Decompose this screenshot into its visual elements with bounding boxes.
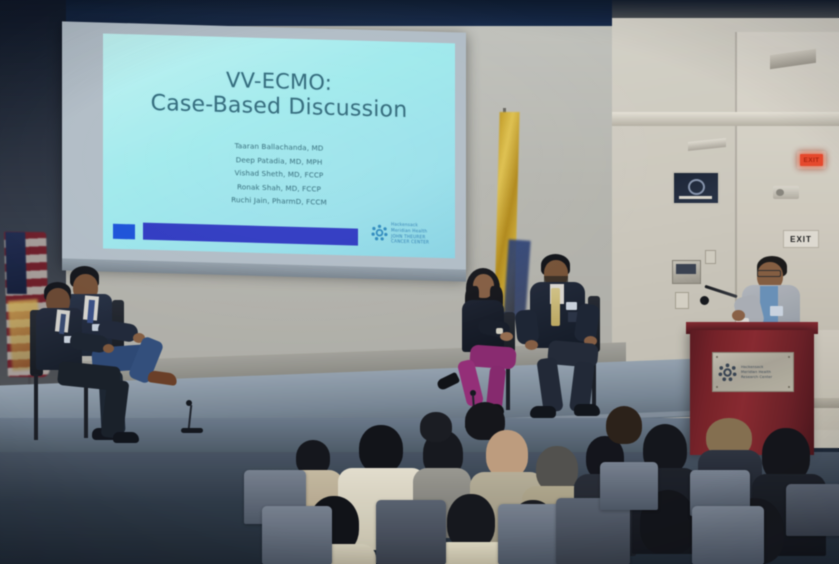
speaker-bar — [679, 196, 712, 199]
exit-sign-wall-label: EXIT — [790, 235, 812, 244]
emergency-light-icon — [773, 186, 799, 199]
wall-speaker-camera-icon — [672, 171, 720, 205]
shoe — [113, 432, 139, 443]
audience-seat[interactable] — [498, 504, 564, 564]
audience-seat[interactable] — [786, 484, 839, 536]
plaque-line-2: Meridian Health — [741, 370, 772, 374]
exit-sign-wall: EXIT — [783, 230, 819, 248]
slide-accent-square — [113, 224, 135, 240]
podium-plaque: Hackensack Meridian Health Research Cent… — [712, 352, 794, 392]
hand — [732, 310, 745, 321]
projection-screen: VV-ECMO: Case-Based Discussion Taaran Ba… — [62, 21, 466, 278]
exit-sign-illuminated: EXIT — [797, 151, 826, 169]
soffit — [612, 112, 839, 126]
wall-control-panel[interactable] — [672, 260, 701, 284]
shoe — [574, 404, 600, 416]
exit-sign-illuminated-label: EXIT — [803, 157, 819, 164]
slide-title-line2: Case-Based Discussion — [103, 90, 455, 126]
hand — [500, 332, 513, 341]
name-badge — [770, 306, 783, 316]
head-back — [420, 412, 452, 442]
shoe — [530, 406, 556, 418]
wall-outlet — [675, 292, 689, 309]
audience-seat[interactable] — [600, 462, 658, 510]
plaque-screw — [788, 386, 790, 388]
necktie — [551, 288, 560, 326]
plaque-screw — [716, 356, 718, 358]
us-flag-canton — [5, 232, 27, 294]
hand-left — [525, 340, 538, 350]
camera-lens-icon — [688, 179, 705, 195]
panel-chair-leg — [84, 380, 88, 438]
head-back — [606, 406, 642, 444]
microphone-head-icon — [700, 296, 709, 305]
conference-photo: EXIT EXIT VV-ECMO: Case-Based Discussion… — [0, 0, 839, 564]
slide-author-list: Taaran Ballachanda, MD Deep Patadia, MD,… — [103, 136, 455, 213]
hand — [103, 344, 114, 353]
head-back-bald — [486, 430, 528, 478]
slide-title: VV-ECMO: Case-Based Discussion — [103, 64, 455, 126]
gear-network-icon — [718, 363, 737, 382]
plaque-screw — [716, 386, 718, 388]
audience-seat[interactable] — [376, 500, 446, 564]
name-badge — [566, 302, 577, 310]
presentation-slide: VV-ECMO: Case-Based Discussion Taaran Ba… — [103, 34, 455, 259]
slide-title-line1: VV-ECMO: — [226, 68, 332, 95]
microphone-base — [181, 428, 203, 433]
panel-chair-leg — [34, 374, 38, 440]
wall-switch-plate[interactable] — [705, 250, 716, 264]
podium-plaque-text: Hackensack Meridian Health Research Cent… — [741, 365, 772, 379]
audience-seat[interactable] — [262, 506, 332, 564]
plaque-screw — [788, 356, 790, 358]
audience-seat[interactable] — [692, 506, 764, 564]
head-back — [359, 425, 403, 473]
plaque-line-3: Research Center — [741, 375, 772, 379]
slide-accent-bar — [143, 223, 358, 246]
arm-left — [514, 309, 539, 345]
exit-lamp-icon: EXIT — [800, 154, 823, 166]
plaque-line-1: Hackensack — [741, 365, 772, 369]
eyeglasses-icon — [757, 270, 781, 277]
